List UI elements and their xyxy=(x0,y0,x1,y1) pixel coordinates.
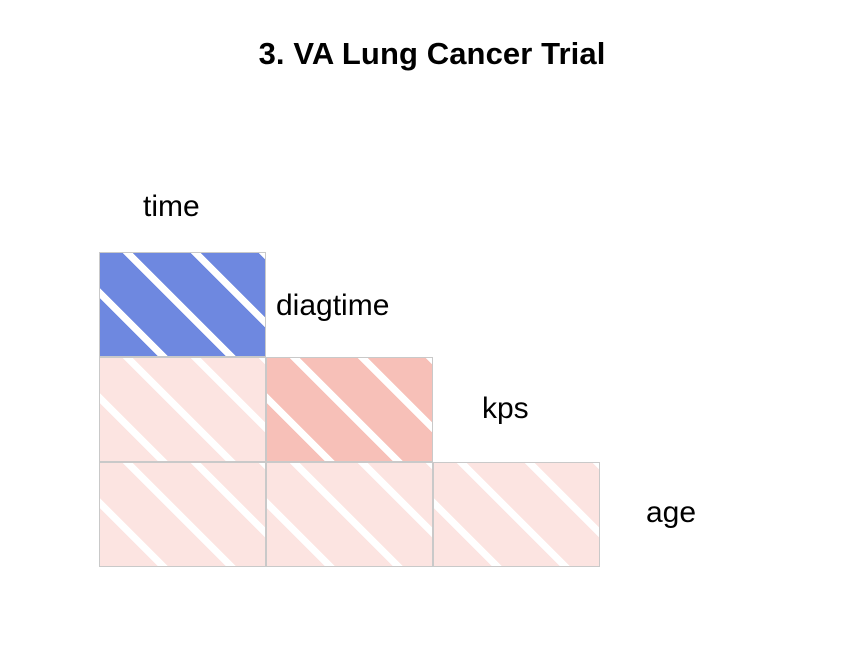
matrix-cell-kps-age[interactable] xyxy=(433,462,600,567)
variable-label-time: time xyxy=(143,192,200,222)
hatch-pattern-icon xyxy=(267,463,432,566)
matrix-cell-time-diagtime[interactable] xyxy=(99,252,266,357)
variable-label-diagtime: diagtime xyxy=(276,291,389,321)
hatch-pattern-icon xyxy=(100,253,265,356)
hatch-pattern-icon xyxy=(267,358,432,461)
variable-label-age: age xyxy=(646,498,696,528)
hatch-pattern-icon xyxy=(434,463,599,566)
matrix-cell-diagtime-age[interactable] xyxy=(266,462,433,567)
variable-label-kps: kps xyxy=(482,394,529,424)
plot-canvas: 3. VA Lung Cancer Trial timediagtimekpsa… xyxy=(0,0,864,672)
hatch-pattern-icon xyxy=(100,463,265,566)
matrix-cell-time-age[interactable] xyxy=(99,462,266,567)
page-title: 3. VA Lung Cancer Trial xyxy=(0,36,864,72)
hatch-pattern-icon xyxy=(100,358,265,461)
matrix-cell-diagtime-kps[interactable] xyxy=(266,357,433,462)
matrix-cell-time-kps[interactable] xyxy=(99,357,266,462)
